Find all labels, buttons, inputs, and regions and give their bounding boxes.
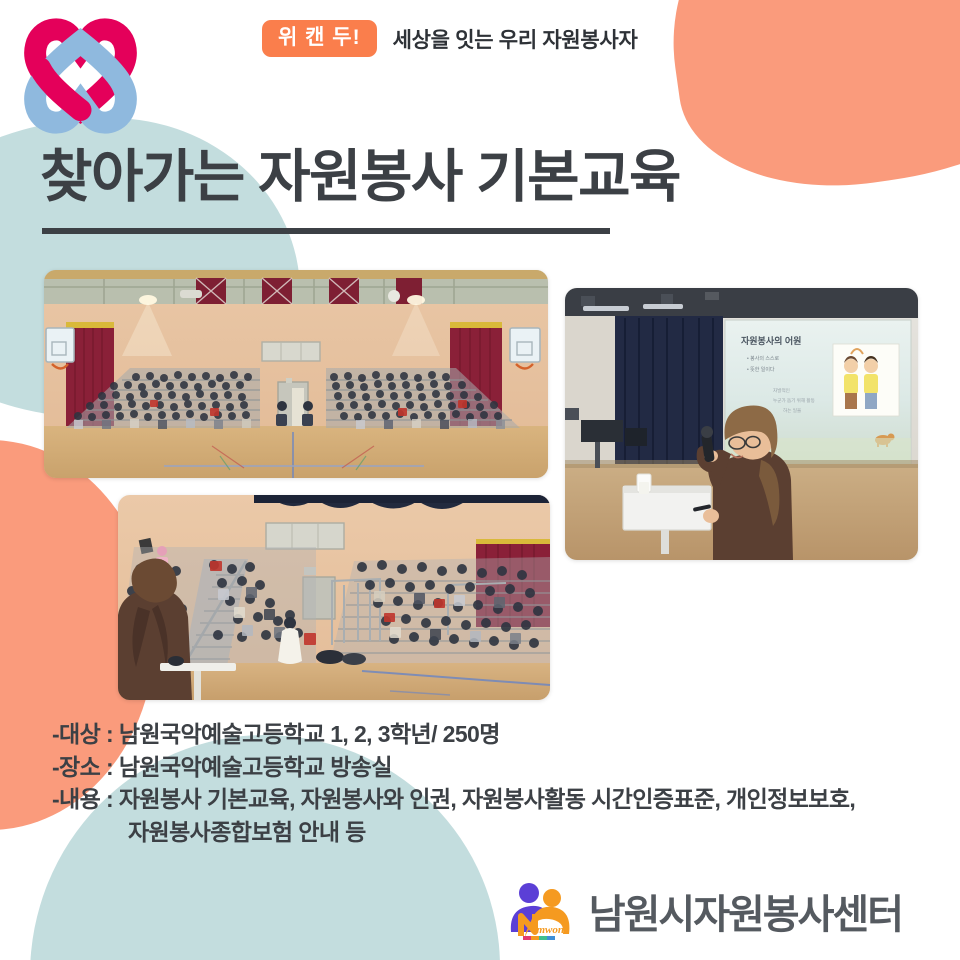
svg-text:하는 일을: 하는 일을 xyxy=(783,407,801,414)
svg-text:• 뜻한 일이다: • 뜻한 일이다 xyxy=(747,366,775,373)
poster-card: 위 캔 두! 세상을 잇는 우리 자원봉사자 찾아가는 자원봉사 기본교육 xyxy=(0,0,960,960)
namwon-two-people-logo-icon: amwon xyxy=(507,880,575,942)
community-chest-hearts-logo-icon xyxy=(18,16,143,136)
footer-org-name: 남원시자원봉사센터 xyxy=(589,882,902,940)
footer-logo: amwon 남원시자원봉사센터 xyxy=(507,880,902,942)
header-slogan-row: 위 캔 두! 세상을 잇는 우리 자원봉사자 xyxy=(262,20,637,57)
slogan-text: 세상을 잇는 우리 자원봉사자 xyxy=(393,24,638,54)
decor-blob-salmon-topright xyxy=(649,0,960,208)
details-block: -대상 : 남원국악예술고등학교 1, 2, 3학년/ 250명 -장소 : 남… xyxy=(52,718,855,849)
detail-line-content-cont: 자원봉사종합보험 안내 등 xyxy=(52,816,855,849)
svg-text:누군가 돕기 위해 활동: 누군가 돕기 위해 활동 xyxy=(773,397,815,404)
svg-text:자원봉사의 어원: 자원봉사의 어원 xyxy=(741,335,801,346)
photo-audience-from-stage xyxy=(118,495,550,700)
detail-line-place: -장소 : 남원국악예술고등학교 방송실 xyxy=(52,751,855,784)
page-title: 찾아가는 자원봉사 기본교육 xyxy=(40,148,680,208)
svg-text:amwon: amwon xyxy=(531,924,564,936)
photo-gymnasium-wide-audience xyxy=(44,270,548,478)
svg-text:• 봉사의 스스로: • 봉사의 스스로 xyxy=(747,355,780,362)
detail-line-target: -대상 : 남원국악예술고등학교 1, 2, 3학년/ 250명 xyxy=(52,718,855,751)
detail-line-content: -내용 : 자원봉사 기본교육, 자원봉사와 인권, 자원봉사활동 시간인증표준… xyxy=(52,783,855,816)
photo-lecturer-with-microphone: 자원봉사의 어원 • 봉사의 스스로 • 뜻한 일이다 자발적인 누군가 돕기 … xyxy=(565,288,918,560)
slogan-badge: 위 캔 두! xyxy=(262,20,377,57)
title-block: 찾아가는 자원봉사 기본교육 xyxy=(40,148,680,234)
svg-text:자발적인: 자발적인 xyxy=(773,387,790,394)
title-underline-rule xyxy=(42,228,610,234)
